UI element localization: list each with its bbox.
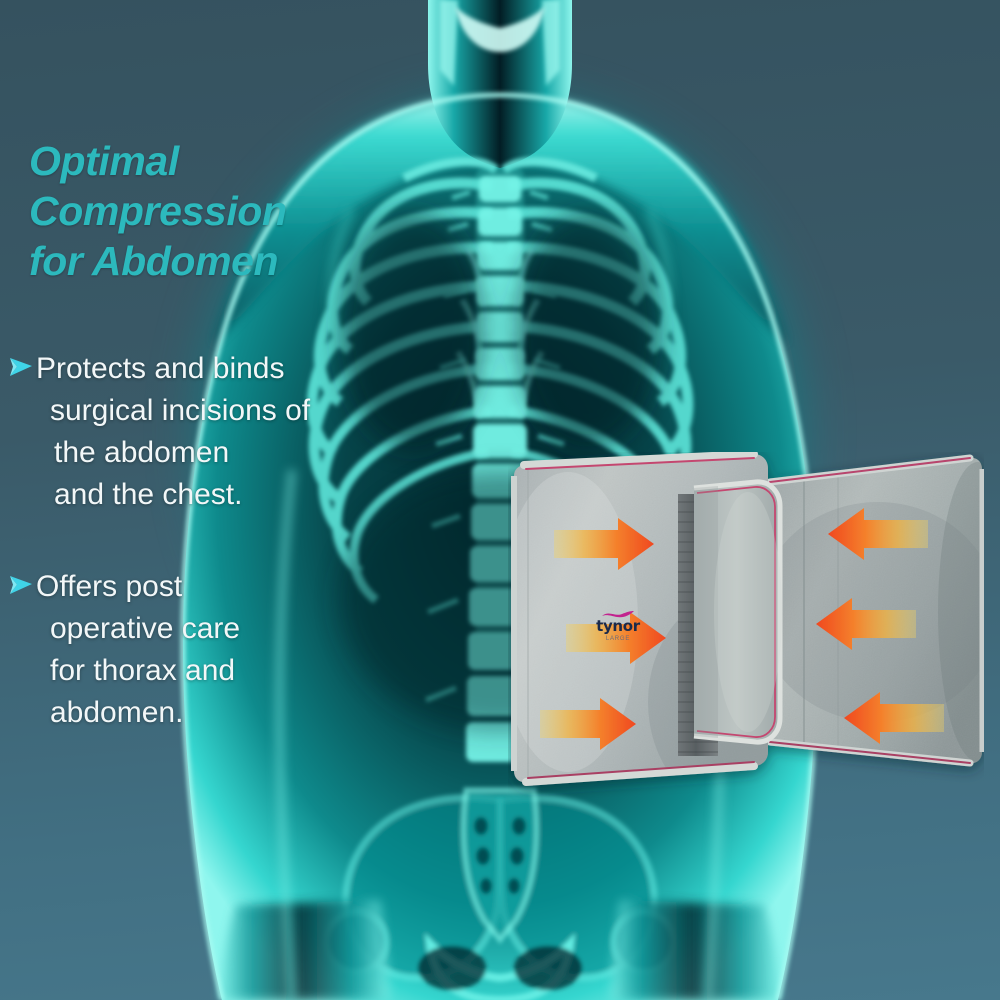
benefit-item-2-text: Offers post operative care for thorax an… <box>36 566 400 734</box>
headline-line-2: Compression <box>29 186 369 236</box>
benefit-item-2: Offers post operative care for thorax an… <box>0 566 400 734</box>
benefit-1-line-4: and the chest. <box>36 474 400 516</box>
benefit-1-line-2: surgical incisions of <box>36 390 400 432</box>
product-banner: tynor LARGE Optimal Compression for Abdo… <box>0 0 1000 1000</box>
brand-name: tynor <box>582 619 654 634</box>
product-size-label: LARGE <box>582 635 654 644</box>
benefit-2-line-4: abdomen. <box>36 692 400 734</box>
benefit-item-1: Protects and binds surgical incisions of… <box>0 348 400 516</box>
belt-svg <box>508 452 984 800</box>
headline: Optimal Compression for Abdomen <box>29 136 369 286</box>
benefit-item-1-text: Protects and binds surgical incisions of… <box>36 348 400 516</box>
benefit-1-line-1: Protects and binds <box>36 348 400 390</box>
benefit-1-line-3: the abdomen <box>36 432 400 474</box>
abdominal-compression-belt: tynor LARGE <box>508 452 984 800</box>
headline-line-3: for Abdomen <box>29 236 369 286</box>
headline-line-1: Optimal <box>29 136 369 186</box>
benefit-2-line-3: for thorax and <box>36 650 400 692</box>
arrow-head-bullet-icon <box>8 572 34 598</box>
benefit-2-line-1: Offers post <box>36 566 400 608</box>
arrow-head-bullet-icon <box>8 354 34 380</box>
marketing-copy-panel: Optimal Compression for Abdomen Protects… <box>0 0 400 1000</box>
brand-logo: tynor LARGE <box>582 610 654 644</box>
benefit-2-line-2: operative care <box>36 608 400 650</box>
benefit-list: Protects and binds surgical incisions of… <box>0 348 400 784</box>
belt-closure-flap <box>694 482 782 742</box>
